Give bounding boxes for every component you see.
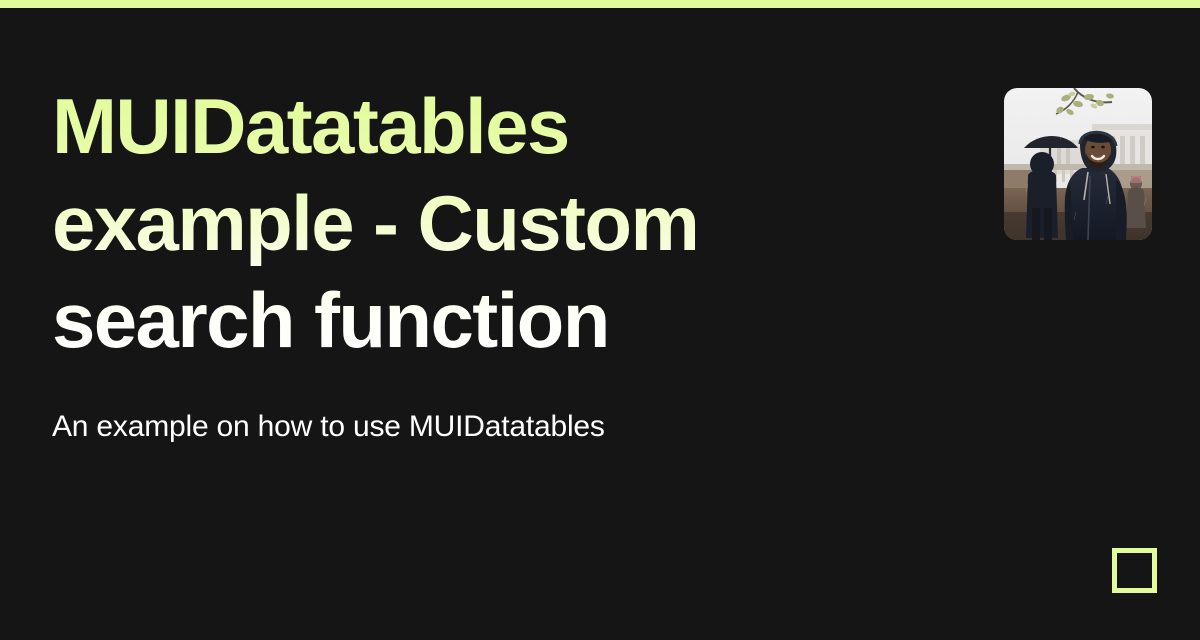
avatar bbox=[1004, 88, 1152, 240]
og-card-content: MUIDatatables example - Custom search fu… bbox=[52, 78, 812, 446]
page-subtitle: An example on how to use MUIDatatables bbox=[52, 408, 812, 446]
avatar-photo bbox=[1004, 88, 1152, 240]
brand-logo-square-icon bbox=[1112, 548, 1157, 593]
page-title: MUIDatatables example - Custom search fu… bbox=[52, 78, 812, 369]
top-accent-bar bbox=[0, 0, 1200, 8]
